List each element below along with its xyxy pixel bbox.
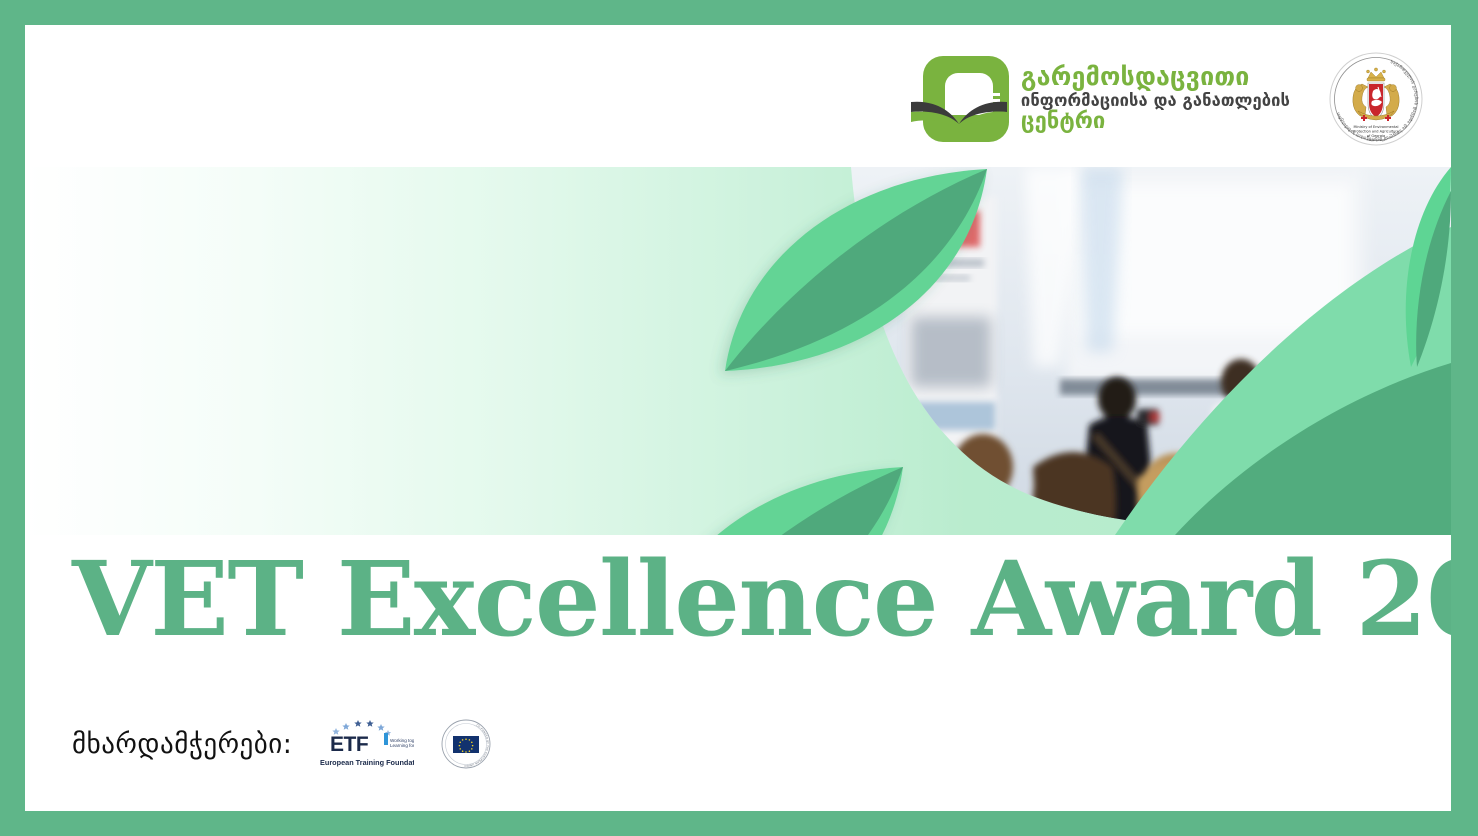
european-union-flag-badge-icon: CO-FUNDED BY THE EUROPEAN UNION: [440, 718, 492, 770]
ceic-emblem-icon: [923, 56, 1009, 142]
ministry-seal-icon: საქართველოს გარემოს დაცვისა და სოფლის მე…: [1328, 51, 1424, 147]
poster-canvas: გარემოსდაცვითი ინფორმაციისა და განათლები…: [25, 25, 1451, 811]
header-strip: გარემოსდაცვითი ინფორმაციისა და განათლები…: [25, 25, 1451, 167]
hero-artwork: [25, 167, 1451, 535]
etf-logo: ETF Working together Learning for life E…: [318, 715, 414, 773]
eu-badge: CO-FUNDED BY THE EUROPEAN UNION: [440, 718, 492, 770]
hero-banner: [25, 167, 1451, 535]
ceic-logo: გარემოსდაცვითი ინფორმაციისა და განათლები…: [923, 56, 1290, 142]
supporters-row: მხარდამჭერები: ETF: [72, 715, 492, 773]
seal-caption-4: mepa.gov.ge: [1367, 138, 1386, 142]
page-title: VET Excellence Award 2022: [72, 548, 1451, 651]
poster-frame: გარემოსდაცვითი ინფორმაციისა და განათლები…: [0, 0, 1478, 836]
supporters-label: მხარდამჭერები:: [72, 729, 292, 760]
ceic-wordmark: გარემოსდაცვითი ინფორმაციისა და განათლები…: [1021, 64, 1290, 133]
title-area: VET Excellence Award 2022: [25, 535, 1451, 685]
svg-text:European Training Foundation: European Training Foundation: [320, 758, 414, 767]
svg-text:ETF: ETF: [330, 733, 369, 756]
ceic-line-3: ცენტრი: [1021, 111, 1290, 134]
open-book-leaf-icon: [909, 96, 1009, 136]
ministry-seal-logo: საქართველოს გარემოს დაცვისა და სოფლის მე…: [1328, 51, 1424, 147]
etf-logo-icon: ETF Working together Learning for life E…: [318, 715, 414, 773]
seal-caption-1: Ministry of Environmental: [1354, 125, 1399, 129]
ceic-line-1: გარემოსდაცვითი: [1021, 64, 1290, 90]
logo-cluster: გარემოსდაცვითი ინფორმაციისა და განათლები…: [923, 51, 1424, 147]
ceic-line-2: ინფორმაციისა და განათლების: [1021, 92, 1290, 109]
svg-text:Learning for life: Learning for life: [390, 743, 414, 748]
seal-caption-2: Protection and Agriculture: [1353, 129, 1399, 133]
